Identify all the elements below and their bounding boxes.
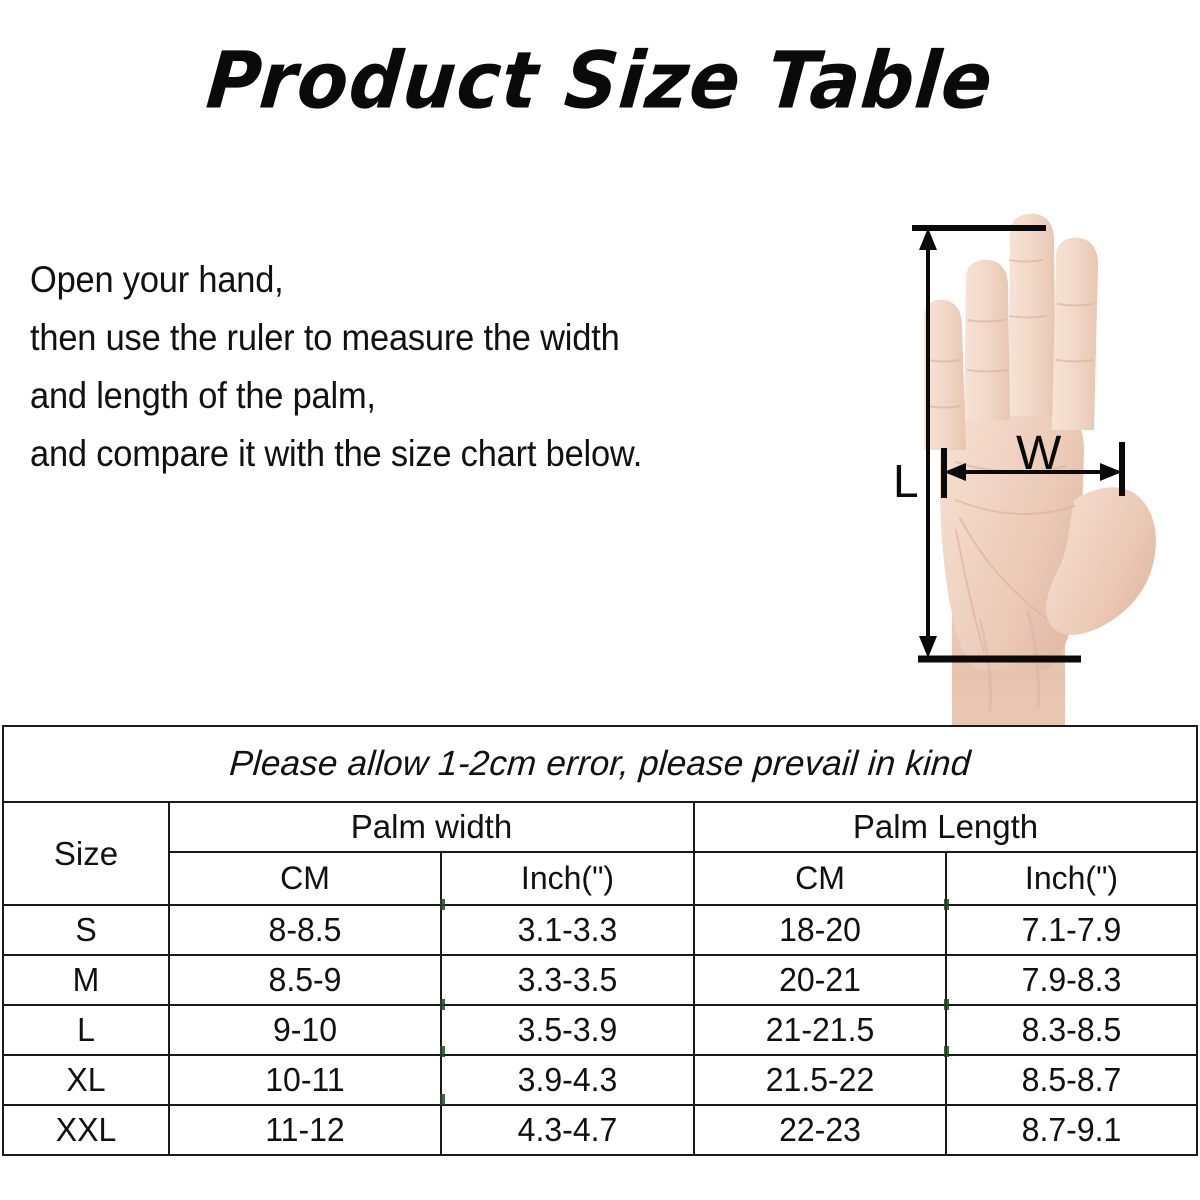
error-note: Please allow 1-2cm error, please prevail… [0, 726, 1199, 802]
table-unit-header-row: CM Inch(") CM Inch(") [3, 852, 1197, 905]
size-chart-table: Please allow 1-2cm error, please prevail… [2, 725, 1198, 1156]
page-title: Product Size Table [0, 42, 1200, 120]
row-length-inch: 8.5-8.7 [950, 1055, 1193, 1105]
row-width-inch: 3.1-3.3 [445, 905, 690, 955]
table-row: M 8.5-9 3.3-3.5 20-21 7.9-8.3 [3, 955, 1197, 1005]
row-width-cm: 8-8.5 [173, 905, 437, 955]
row-size: S [5, 905, 166, 955]
palm-width-label: W [1016, 430, 1061, 478]
instruction-line-1: Open your hand, [30, 251, 774, 309]
row-width-inch: 3.3-3.5 [445, 955, 690, 1005]
row-length-cm: 18-20 [698, 905, 942, 955]
row-length-cm: 21-21.5 [698, 1005, 942, 1055]
row-size: L [5, 1005, 166, 1055]
palm-length-label: L [893, 458, 919, 504]
header-width-cm: CM [169, 852, 441, 905]
table-group-header-row: Size Palm width Palm Length [3, 802, 1197, 852]
table-note-row: Please allow 1-2cm error, please prevail… [3, 726, 1197, 802]
header-length-cm: CM [694, 852, 946, 905]
hand-measurement-diagram: L W [860, 200, 1200, 725]
table-row: XXL 11-12 4.3-4.7 22-23 8.7-9.1 [3, 1105, 1197, 1155]
row-size: XXL [5, 1105, 166, 1155]
row-length-cm: 21.5-22 [698, 1055, 942, 1105]
instruction-line-4: and compare it with the size chart below… [30, 425, 774, 483]
row-size: M [5, 955, 166, 1005]
row-length-inch: 8.7-9.1 [950, 1105, 1193, 1155]
row-width-cm: 10-11 [173, 1055, 437, 1105]
row-width-cm: 8.5-9 [173, 955, 437, 1005]
header-size: Size [3, 802, 169, 905]
header-width-inch: Inch(") [441, 852, 694, 905]
row-length-inch: 8.3-8.5 [950, 1005, 1193, 1055]
header-length-inch: Inch(") [946, 852, 1197, 905]
row-width-inch: 3.5-3.9 [445, 1005, 690, 1055]
row-width-cm: 9-10 [173, 1005, 437, 1055]
instruction-line-2: then use the ruler to measure the width [30, 309, 774, 367]
table-row: L 9-10 3.5-3.9 21-21.5 8.3-8.5 [3, 1005, 1197, 1055]
table-row: XL 10-11 3.9-4.3 21.5-22 8.5-8.7 [3, 1055, 1197, 1105]
row-length-inch: 7.1-7.9 [950, 905, 1193, 955]
table-row: S 8-8.5 3.1-3.3 18-20 7.1-7.9 [3, 905, 1197, 955]
instruction-line-3: and length of the palm, [30, 367, 774, 425]
instructions-block: Open your hand, then use the ruler to me… [30, 251, 830, 483]
row-width-inch: 4.3-4.7 [445, 1105, 690, 1155]
header-palm-length: Palm Length [694, 802, 1197, 852]
header-palm-width: Palm width [169, 802, 694, 852]
row-size: XL [5, 1055, 166, 1105]
row-width-cm: 11-12 [173, 1105, 437, 1155]
row-length-cm: 20-21 [698, 955, 942, 1005]
row-length-inch: 7.9-8.3 [950, 955, 1193, 1005]
row-width-inch: 3.9-4.3 [445, 1055, 690, 1105]
row-length-cm: 22-23 [698, 1105, 942, 1155]
